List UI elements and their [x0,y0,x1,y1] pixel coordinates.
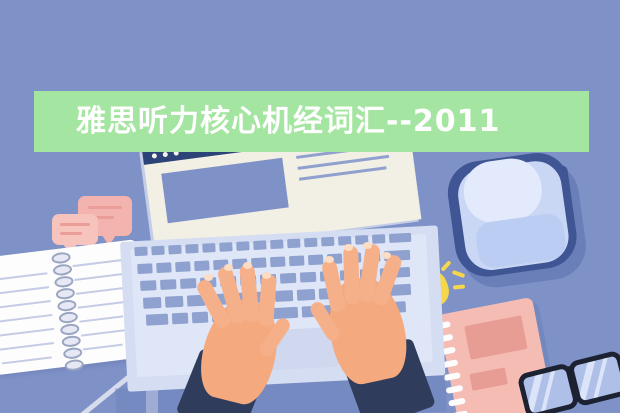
spiral-ring [54,275,74,288]
finger [343,246,360,304]
lens-glint [540,362,557,413]
notebook-rule [2,356,52,364]
notebook-rule [0,286,49,295]
lens-glint [593,350,610,402]
spiral-ring [57,299,77,312]
speech-bubble-front [52,214,98,245]
spiral-ring [64,359,84,372]
spiral-ring [63,347,83,360]
spiral-ring [51,251,71,264]
illustration-canvas: 雅思听力核心机经词汇--2011 [0,0,620,413]
window-dot-icon [152,153,158,159]
page-title: 雅思听力核心机经词汇--2011 [34,107,500,137]
notebook-rule [0,342,54,351]
title-banner: 雅思听力核心机经词汇--2011 [34,91,589,152]
fingernail [243,262,252,269]
fingernail [325,256,334,263]
finger [258,274,277,327]
fingernail [382,252,391,259]
window-dot-icon [162,152,168,158]
notebook-rule [0,300,51,309]
fingernail [224,264,233,271]
fingernail [262,272,271,279]
screen-text-line [299,166,387,180]
notebook-rule [79,315,123,322]
hand-left [190,272,310,413]
bubble-text-line [88,206,122,209]
notebook-rule [83,344,123,351]
notebook-rule [0,328,54,338]
lightbulb-ray [453,284,465,289]
fingernail [363,242,372,249]
fingernail [344,244,353,251]
screen-content-block [161,158,288,223]
fingernail [204,274,213,281]
notebook-rule [0,272,47,281]
lightbulb-ray [452,270,466,278]
spiral-ring [60,323,80,336]
bubble-text-line [60,232,82,235]
spiral-ring [58,311,78,324]
notebook-rule [0,314,53,324]
bubble-text-line [60,223,90,226]
spiral-ring [55,287,75,300]
spiral-ring [61,335,81,348]
hand-right [300,252,430,413]
spiral-ring [52,263,72,276]
